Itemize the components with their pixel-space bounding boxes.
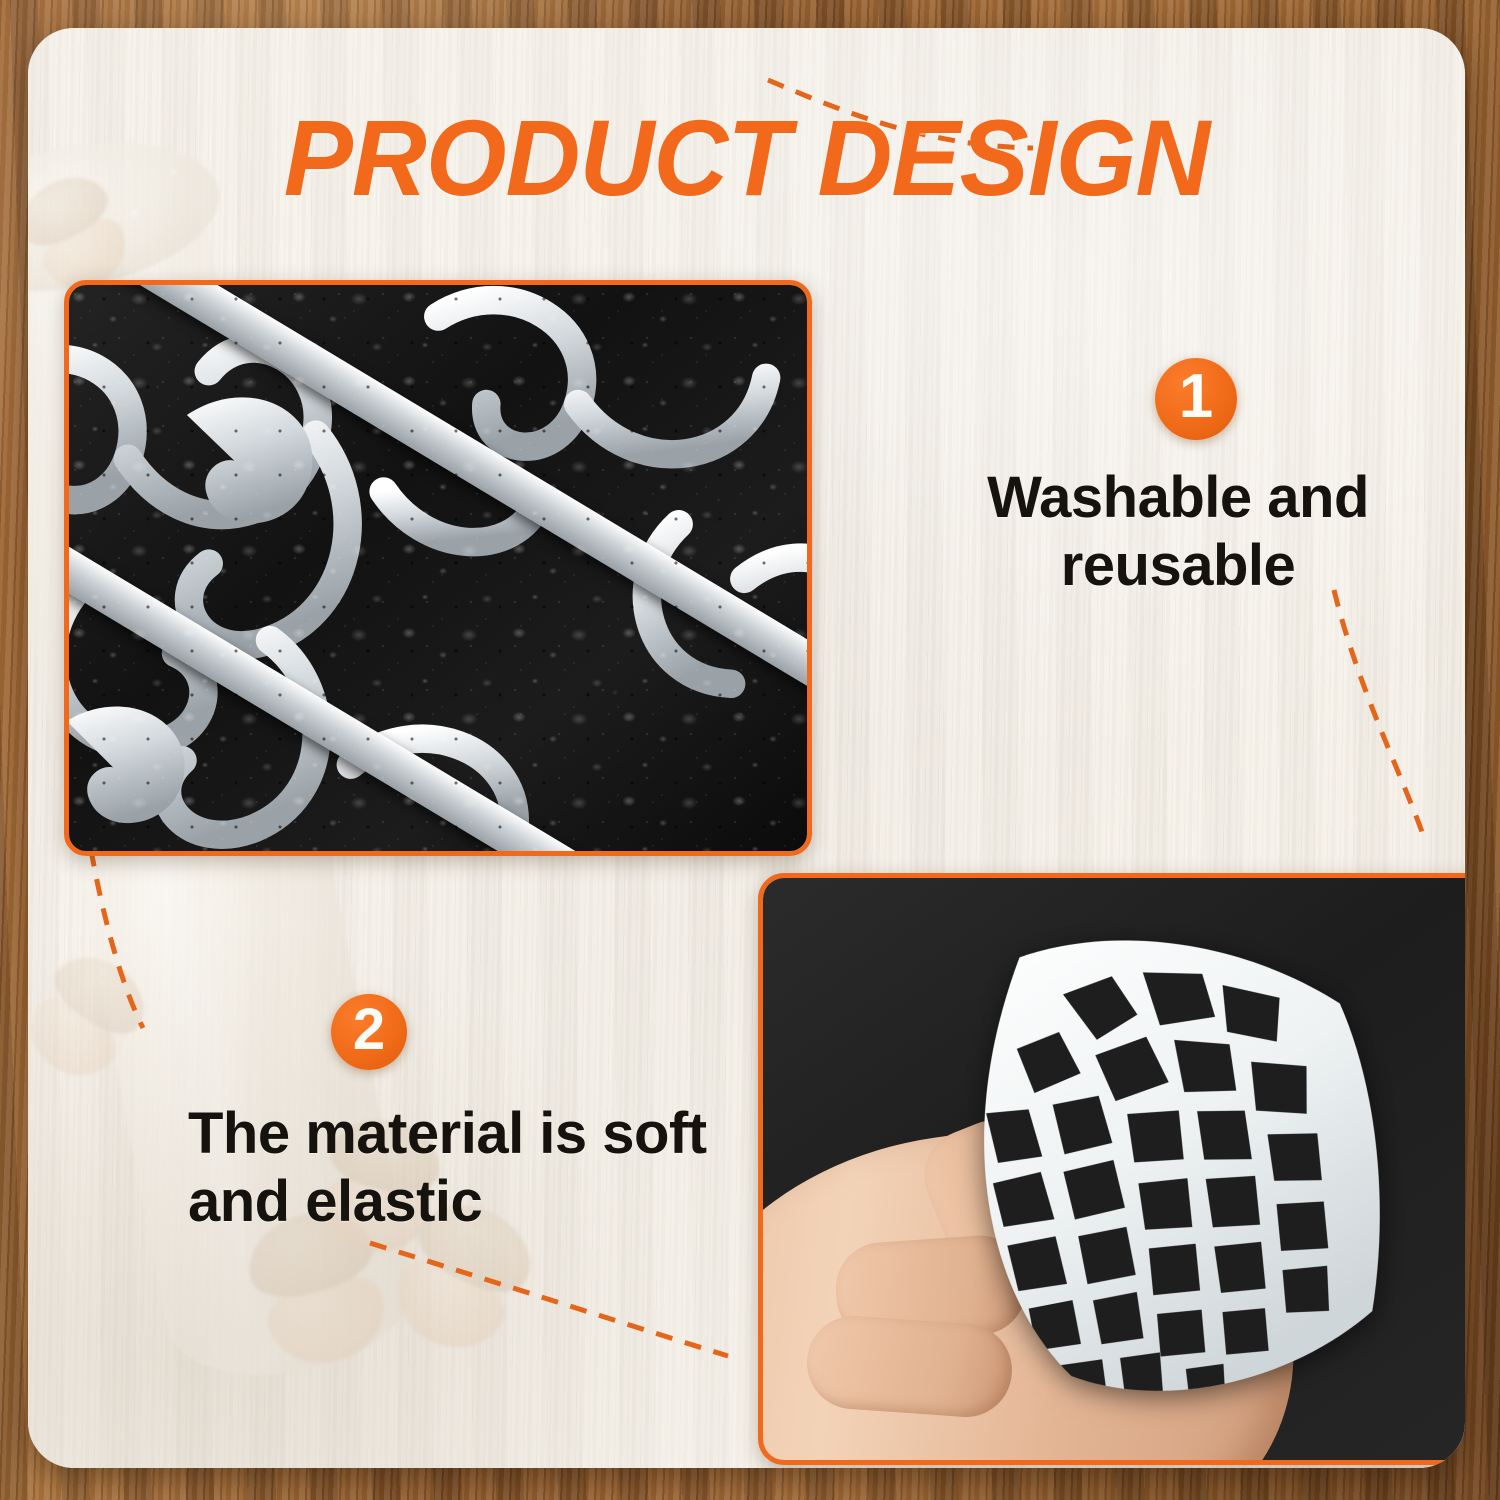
- feature-caption-1: Washable and reusable: [888, 464, 1465, 601]
- page-title: PRODUCT DESIGN: [57, 104, 1437, 212]
- lattice-drain-cover: [889, 884, 1442, 1453]
- content-card: PRODUCT DESIGN: [28, 28, 1465, 1468]
- filigree-mat-photo: [64, 280, 812, 856]
- feature-caption-2: The material is soft and elastic: [188, 1100, 748, 1237]
- infographic-canvas: PRODUCT DESIGN: [0, 0, 1500, 1500]
- badge-2-number: 2: [353, 996, 385, 1063]
- water-droplets-overlay: [69, 285, 807, 851]
- step-number-badge-2: 2: [331, 994, 407, 1070]
- step-number-badge-1: 1: [1155, 358, 1237, 440]
- badge-1-number: 1: [1179, 361, 1213, 432]
- hand-holding-lattice-photo: [758, 873, 1465, 1465]
